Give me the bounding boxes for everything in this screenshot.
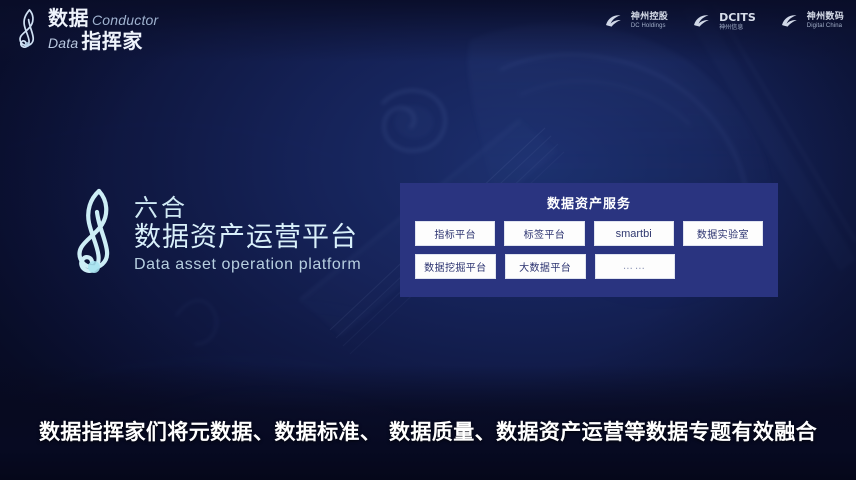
service-tile-row-2-spacer: [684, 254, 763, 279]
panel-title: 数据资产服务: [400, 183, 778, 212]
partner-logo-dcits: DCITS 神州信息: [692, 12, 756, 31]
brand-line2-cn: 指挥家: [81, 31, 143, 51]
swoosh-icon: [692, 13, 714, 29]
treble-clef-icon: [14, 7, 44, 51]
partner-name-en: Digital China: [807, 23, 844, 29]
service-tile-row-1: 指标平台 标签平台 smartbi 数据实验室: [415, 221, 763, 246]
partner-logo-dc-holdings: 神州控股 DC Holdings: [604, 13, 668, 30]
hero-line-2: 数据资产运营平台: [134, 224, 361, 251]
swoosh-icon: [780, 13, 802, 29]
hero-line-3: Data asset operation platform: [134, 257, 361, 273]
service-tile-more[interactable]: ……: [595, 254, 676, 279]
service-tile-indicator-platform[interactable]: 指标平台: [415, 221, 495, 246]
hero-line-1: 六合: [134, 196, 361, 220]
service-tile-tag-platform[interactable]: 标签平台: [504, 221, 584, 246]
brand-line1-cn: 数据: [48, 8, 89, 28]
service-tile-smartbi[interactable]: smartbi: [594, 221, 674, 246]
partner-logo-digital-china: 神州数码 Digital China: [780, 13, 844, 30]
service-tile-grid: 指标平台 标签平台 smartbi 数据实验室 数据挖掘平台 大数据平台 ……: [400, 212, 778, 279]
partner-name-en: 神州信息: [719, 25, 756, 31]
service-tile-row-2: 数据挖掘平台 大数据平台 ……: [415, 254, 763, 279]
partner-name-en: DC Holdings: [631, 23, 668, 29]
swoosh-icon: [604, 13, 626, 29]
brand-logo: 数据 Conductor Data 指挥家: [14, 6, 158, 51]
partner-name-cn: 神州控股: [631, 13, 668, 22]
partner-logo-group: 神州控股 DC Holdings DCITS 神州信息 神州数码 Digital…: [604, 12, 844, 31]
brand-line1-en: Conductor: [92, 13, 158, 27]
data-asset-service-panel: 数据资产服务 指标平台 标签平台 smartbi 数据实验室 数据挖掘平台 大数…: [400, 183, 778, 297]
caption-text: 数据指挥家们将元数据、数据标准、 数据质量、数据资产运营等数据专题有效融合: [0, 416, 856, 446]
partner-name-cn: 神州数码: [807, 13, 844, 22]
service-tile-big-data-platform[interactable]: 大数据平台: [505, 254, 586, 279]
brand-line2-en: Data: [48, 36, 78, 50]
hero-title-block: 六合 数据资产运营平台 Data asset operation platfor…: [72, 186, 361, 282]
service-tile-data-mining-platform[interactable]: 数据挖掘平台: [415, 254, 496, 279]
partner-name-cn: DCITS: [719, 12, 756, 24]
treble-clef-icon: [72, 186, 124, 282]
slide-root: 数据 Conductor Data 指挥家 神州控股 DC Holdings: [0, 0, 856, 480]
service-tile-data-lab[interactable]: 数据实验室: [683, 221, 763, 246]
